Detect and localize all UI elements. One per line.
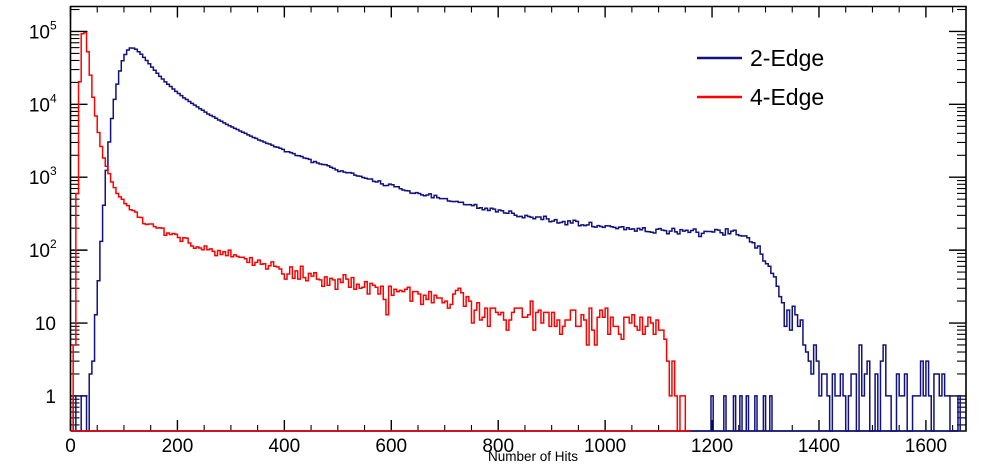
svg-text:10: 10	[29, 168, 50, 189]
svg-text:10: 10	[29, 22, 50, 43]
chart-canvas: 02004006008001000120014001600 1101021031…	[0, 0, 996, 472]
y-tick-label: 10	[35, 314, 56, 335]
legend-entry-2-edge[interactable]: 2-Edge	[697, 45, 824, 71]
svg-text:10: 10	[35, 314, 56, 335]
svg-text:4: 4	[50, 91, 57, 105]
series-line-4-edge	[71, 33, 691, 431]
series-tail-spikes-2-edge	[711, 396, 960, 431]
svg-text:5: 5	[50, 18, 57, 32]
legend-label: 2-Edge	[750, 45, 824, 71]
y-axis-tick-labels: 110102103104105	[29, 18, 57, 407]
y-tick-label: 103	[29, 164, 57, 189]
x-tick-label: 0	[65, 436, 76, 457]
y-tick-label: 102	[29, 237, 57, 262]
legend-label: 4-Edge	[750, 84, 824, 110]
chart-legend: 2-Edge4-Edge	[697, 45, 824, 110]
y-tick-label: 1	[45, 387, 56, 408]
x-tick-label: 600	[375, 436, 407, 457]
data-series-group	[71, 33, 961, 431]
svg-text:10: 10	[29, 95, 50, 116]
series-line-2-edge	[71, 48, 958, 431]
svg-text:10: 10	[29, 241, 50, 262]
y-tick-label: 104	[29, 91, 57, 116]
frame-border	[71, 7, 967, 432]
x-tick-label: 1200	[691, 436, 733, 457]
x-tick-label: 1000	[584, 436, 626, 457]
svg-text:1: 1	[45, 387, 56, 408]
x-tick-label: 400	[268, 436, 300, 457]
x-tick-label: 1400	[798, 436, 840, 457]
x-tick-label: 1600	[905, 436, 947, 457]
x-tick-label: 200	[162, 436, 194, 457]
x-axis-title: Number of Hits	[488, 449, 578, 464]
histogram-plot: 02004006008001000120014001600 1101021031…	[0, 0, 996, 472]
plot-frame	[71, 7, 967, 432]
svg-text:2: 2	[50, 237, 57, 251]
svg-text:3: 3	[50, 164, 57, 178]
y-tick-label: 105	[29, 18, 57, 43]
legend-entry-4-edge[interactable]: 4-Edge	[697, 84, 824, 110]
